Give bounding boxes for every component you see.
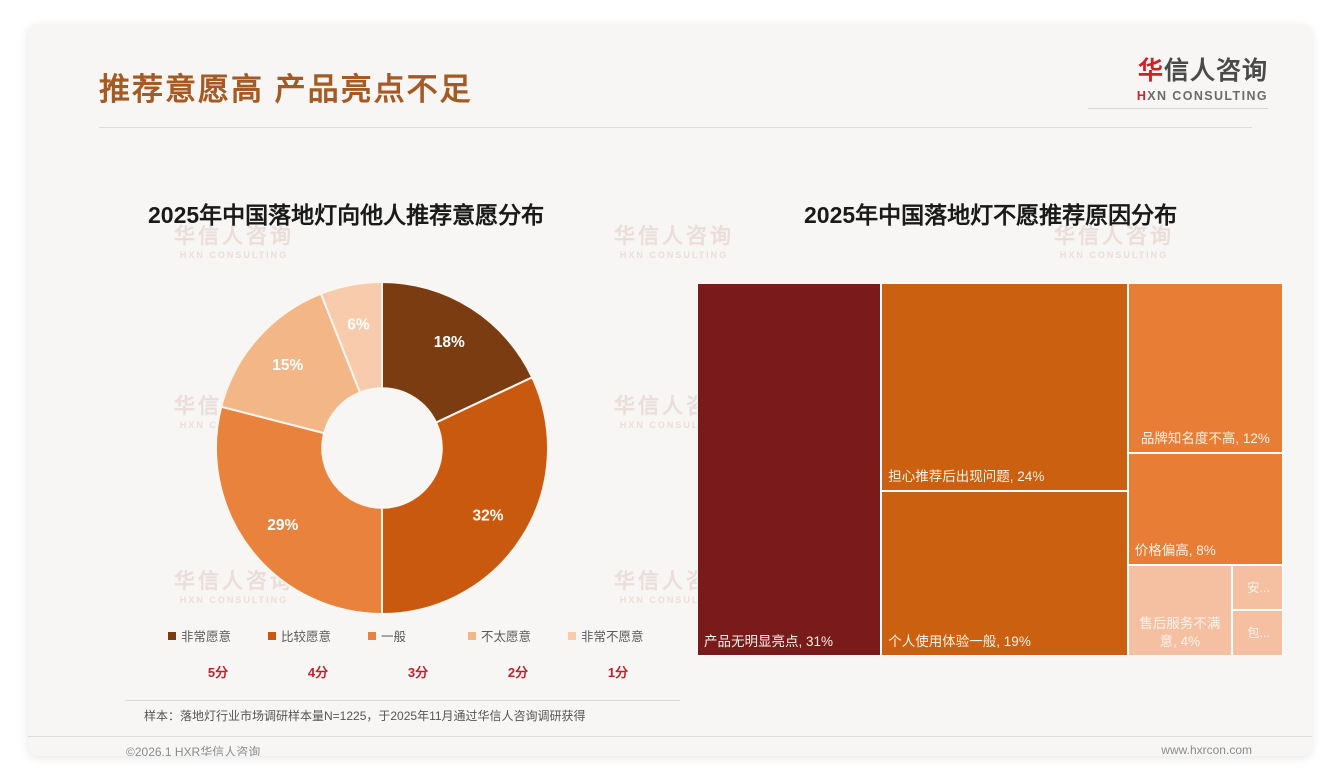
legend-label: 比较愿意 (281, 626, 331, 645)
legend-item[interactable]: 一般 (368, 626, 468, 645)
logo-en-text: HXN CONSULTING (1088, 89, 1268, 103)
score-label: 1分 (568, 662, 668, 681)
legend-swatch (468, 632, 476, 640)
legend-label: 非常愿意 (181, 626, 231, 645)
donut-slice-label: 32% (473, 507, 504, 524)
treemap-cell[interactable]: 包... (1232, 610, 1283, 656)
page-title: 推荐意愿高 产品亮点不足 (99, 64, 473, 109)
logo-en-rest: XN CONSULTING (1147, 89, 1268, 103)
left-chart-title: 2025年中国落地灯向他人推荐意愿分布 (148, 196, 544, 230)
donut-legend: 非常愿意比较愿意一般不太愿意非常不愿意 (168, 626, 668, 645)
treemap-cell[interactable]: 品牌知名度不高, 12% (1128, 283, 1283, 453)
treemap-cell[interactable]: 售后服务不满意, 4% (1128, 565, 1232, 656)
treemap-cell[interactable]: 担心推荐后出现问题, 24% (881, 283, 1127, 491)
legend-item[interactable]: 非常不愿意 (568, 626, 668, 645)
score-label: 2分 (468, 662, 568, 681)
treemap-cell[interactable]: 价格偏高, 8% (1128, 453, 1283, 565)
donut-slice-label: 15% (272, 357, 303, 374)
score-label: 4分 (268, 662, 368, 681)
watermark-en: HXN CONSULTING (1054, 250, 1174, 261)
footnote-text: 样本：落地灯行业市场调研样本量N=1225，于2025年11月通过华信人咨询调研… (144, 707, 586, 724)
legend-item[interactable]: 非常愿意 (168, 626, 268, 645)
logo-cn-rest: 信人咨询 (1164, 57, 1268, 85)
legend-swatch (568, 632, 576, 640)
donut-slice[interactable] (216, 407, 382, 614)
watermark: 华信人咨询 HXN CONSULTING (614, 224, 734, 262)
footer-copyright: ©2026.1 HXR华信人咨询 (126, 743, 260, 756)
donut-slice-label: 29% (267, 517, 298, 534)
slide-header: 推荐意愿高 产品亮点不足 华信人咨询 HXN CONSULTING (28, 24, 1312, 128)
treemap-cell[interactable]: 产品无明显亮点, 31% (697, 283, 881, 656)
treemap-cell[interactable]: 安... (1232, 565, 1283, 610)
treemap-cell-label: 担心推荐后出现问题, 24% (888, 468, 1122, 485)
legend-item[interactable]: 不太愿意 (468, 626, 568, 645)
treemap-cell-label: 包... (1239, 625, 1278, 641)
legend-item[interactable]: 比较愿意 (268, 626, 368, 645)
brand-logo: 华信人咨询 HXN CONSULTING (1088, 58, 1268, 109)
donut-slice-label: 6% (347, 317, 370, 334)
donut-chart: 18%32%29%15%6% (206, 272, 558, 624)
logo-cn-first-char: 华 (1138, 57, 1164, 85)
legend-label: 非常不愿意 (581, 626, 644, 645)
footer-website: www.hxrcon.com (1161, 743, 1252, 756)
logo-en-first-char: H (1137, 89, 1147, 103)
watermark-en: HXN CONSULTING (174, 250, 294, 261)
header-divider (99, 127, 1252, 128)
treemap-cell-label: 安... (1239, 580, 1278, 596)
treemap-cell-label: 个人使用体验一般, 19% (888, 633, 1122, 650)
donut-slice-label: 18% (434, 334, 465, 351)
treemap-cell-label: 品牌知名度不高, 12% (1133, 430, 1278, 447)
legend-swatch (268, 632, 276, 640)
treemap-cell-label: 产品无明显亮点, 31% (704, 633, 876, 650)
footnote-divider (125, 700, 680, 701)
donut-slice[interactable] (382, 377, 548, 614)
treemap-chart: 产品无明显亮点, 31%担心推荐后出现问题, 24%个人使用体验一般, 19%品… (697, 283, 1283, 656)
donut-chart-svg: 18%32%29%15%6% (206, 272, 558, 624)
footer-divider (28, 736, 1312, 737)
watermark-en: HXN CONSULTING (614, 250, 734, 261)
legend-label: 一般 (381, 626, 406, 645)
slide-canvas: 华信人咨询 HXN CONSULTING 华信人咨询 HXN CONSULTIN… (28, 24, 1312, 756)
legend-swatch (168, 632, 176, 640)
legend-swatch (368, 632, 376, 640)
score-scale-row: 5分4分3分2分1分 (168, 662, 668, 681)
score-label: 5分 (168, 662, 268, 681)
right-chart-title: 2025年中国落地灯不愿推荐原因分布 (804, 196, 1177, 230)
treemap-cell-label: 售后服务不满意, 4% (1133, 615, 1227, 650)
score-label: 3分 (368, 662, 468, 681)
watermark-cn: 华信人咨询 (614, 224, 734, 250)
logo-underline (1088, 108, 1268, 109)
treemap-cell[interactable]: 个人使用体验一般, 19% (881, 491, 1127, 656)
treemap-cell-label: 价格偏高, 8% (1135, 542, 1278, 559)
legend-label: 不太愿意 (481, 626, 531, 645)
logo-cn-text: 华信人咨询 (1088, 58, 1268, 86)
